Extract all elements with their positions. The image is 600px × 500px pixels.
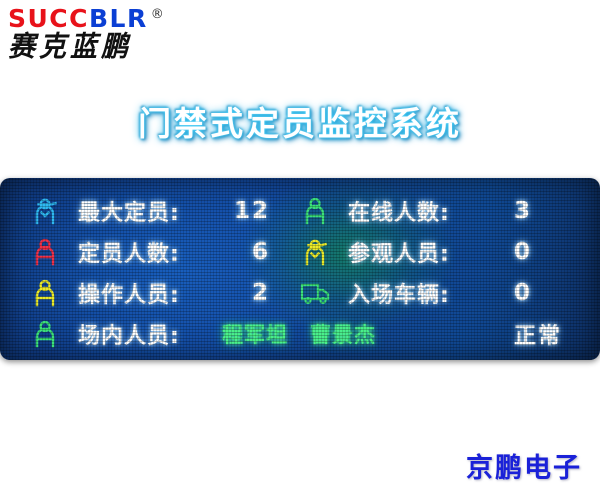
led-value: 12 — [234, 198, 270, 224]
led-value: 6 — [252, 239, 270, 265]
led-display-panel: 最大定员: 12 在线人数: 3 — [0, 178, 600, 360]
led-field-online-count: 在线人数: 3 — [300, 190, 590, 231]
app-root: SUCCBLR® 赛克蓝鹏 门禁式定员监控系统 — [0, 0, 600, 500]
led-label: 场内人员: — [78, 318, 180, 350]
led-rows-container: 最大定员: 12 在线人数: 3 — [0, 178, 600, 360]
led-field-assigned-count: 定员人数: 6 — [30, 231, 305, 272]
brand-logo: SUCCBLR® 赛克蓝鹏 — [8, 6, 165, 61]
company-mark: 京鹏电子 — [466, 446, 582, 485]
person-icon — [30, 237, 60, 267]
led-row: 最大定员: 12 在线人数: 3 — [0, 190, 600, 231]
led-row: 操作人员: 2 入场车辆: — [0, 272, 600, 313]
led-value: 3 — [514, 198, 532, 224]
list-item: 曹景杰 — [310, 319, 376, 349]
onsite-personnel-name-list: 程军坦 曹景杰 — [222, 313, 376, 354]
led-field-visitor-count: 参观人员: 0 — [300, 231, 590, 272]
person-icon — [30, 319, 60, 349]
led-label: 入场车辆: — [348, 277, 450, 309]
status-badge: 正常 — [514, 313, 562, 354]
list-item: 程军坦 — [222, 319, 288, 349]
led-label: 参观人员: — [348, 236, 450, 268]
led-value: 0 — [514, 280, 532, 306]
registered-trademark-icon: ® — [151, 7, 166, 22]
person-cap-icon — [300, 237, 330, 267]
person-cap-icon — [30, 196, 60, 226]
page-title: 门禁式定员监控系统 — [0, 97, 600, 145]
brand-chinese-name: 赛克蓝鹏 — [8, 33, 165, 63]
brand-latin-part-blue: BLR — [89, 4, 148, 33]
truck-icon — [300, 278, 330, 308]
person-icon — [300, 196, 330, 226]
led-row: 定员人数: 6 — [0, 231, 600, 272]
led-value: 0 — [514, 239, 532, 265]
led-label: 定员人数: — [78, 236, 180, 268]
person-icon — [30, 278, 60, 308]
brand-latin-part-red: SUCC — [8, 4, 89, 33]
led-label: 最大定员: — [78, 195, 180, 227]
led-label: 在线人数: — [348, 195, 450, 227]
led-row-onsite-personnel: 场内人员: 程军坦 曹景杰 正常 — [0, 313, 600, 354]
led-field-operator-count: 操作人员: 2 — [30, 272, 305, 313]
led-field-max-capacity: 最大定员: 12 — [30, 190, 305, 231]
led-field-vehicle-count: 入场车辆: 0 — [300, 272, 590, 313]
led-label: 操作人员: — [78, 277, 180, 309]
led-value: 2 — [252, 280, 270, 306]
brand-latin-wordmark: SUCCBLR® — [8, 6, 165, 31]
